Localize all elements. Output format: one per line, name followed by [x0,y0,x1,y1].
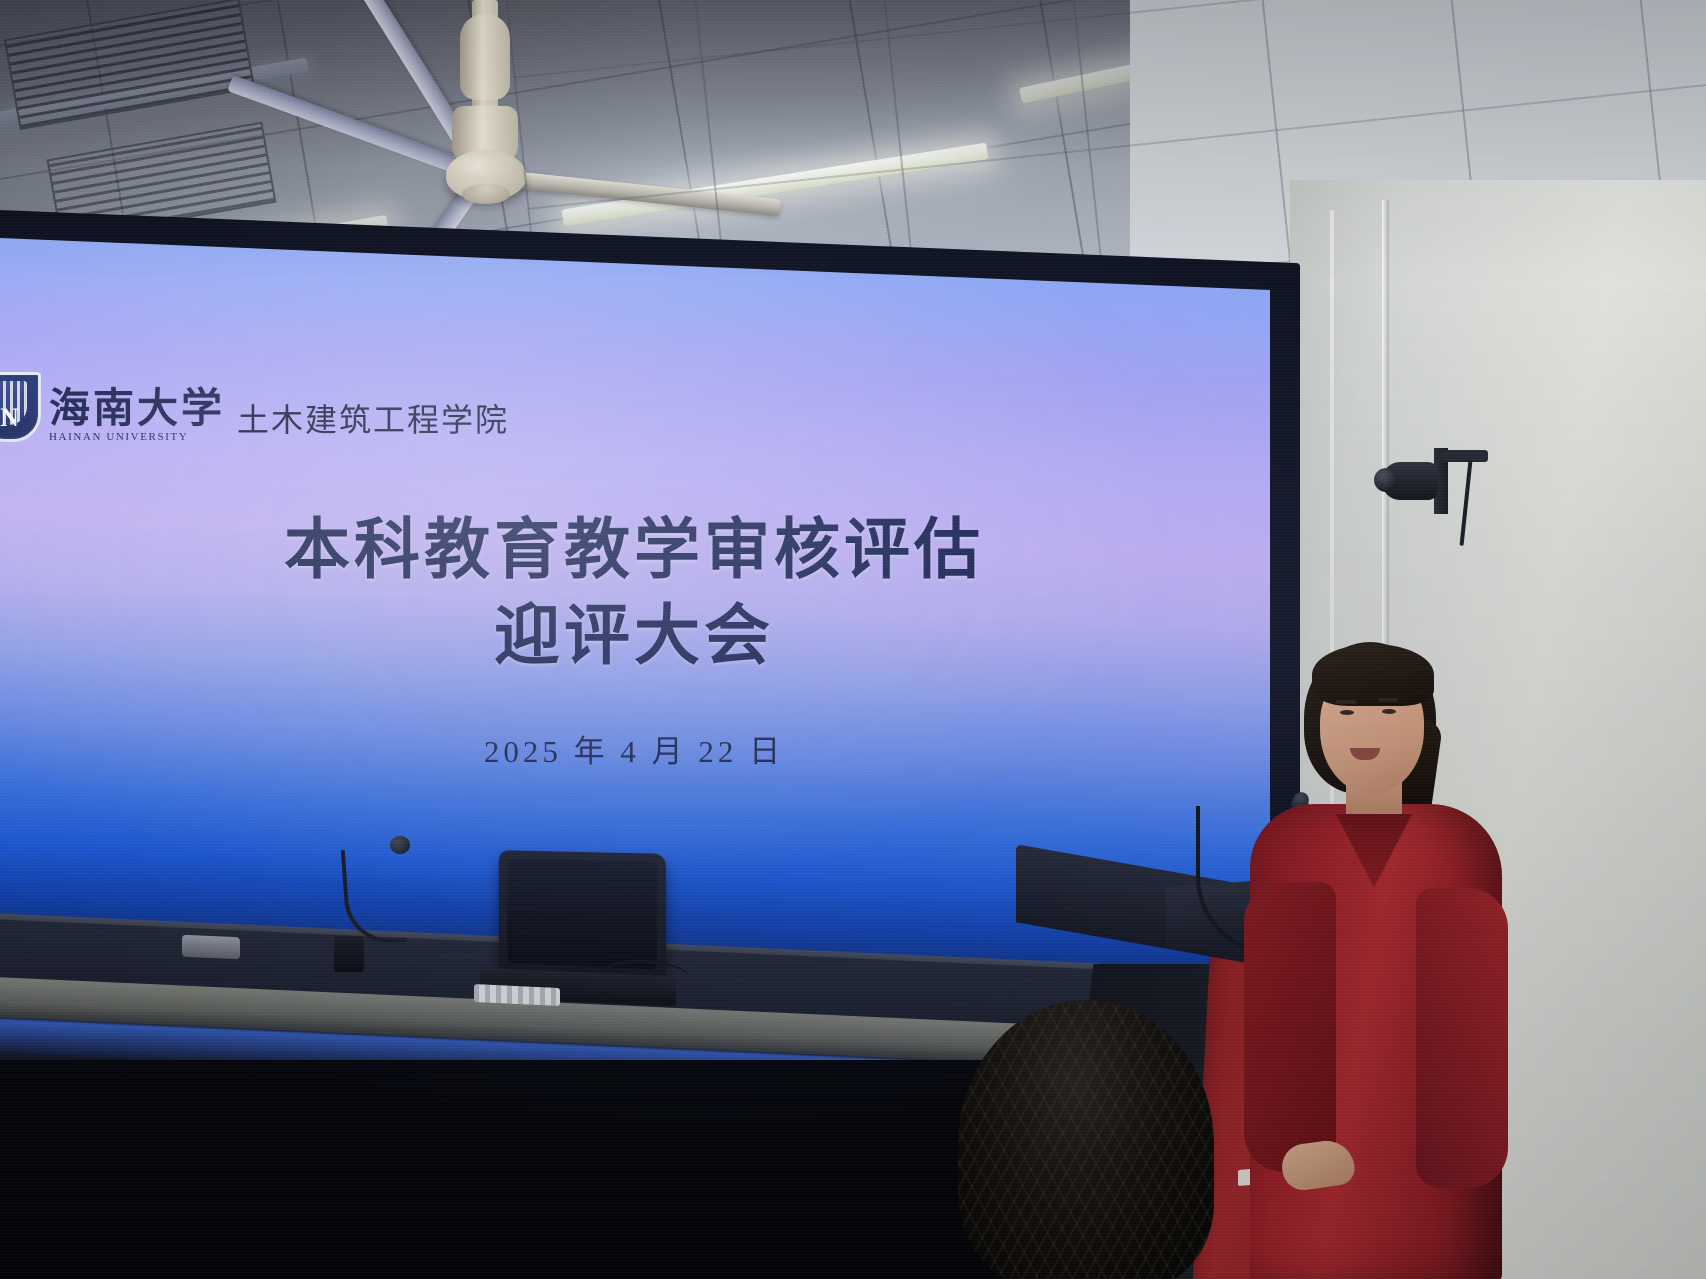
speaker-left-arm [1244,882,1336,1172]
hainan-university-shield-logo: N [0,372,37,444]
camera-lens-icon [1374,468,1398,492]
university-name-cn: 海南大学 [49,386,225,430]
shield-letter: N [0,403,26,433]
speaker-eye [1340,710,1354,715]
fan-canopy [460,14,510,100]
microphone-capsule-icon [390,836,410,854]
speaker-right-arm [1416,888,1508,1188]
control-keypad-icon [474,984,560,1006]
college-name: 土木建筑工程学院 [237,398,509,442]
fan-hub [446,150,526,200]
audience-member-foreground [958,1000,1214,1279]
shield-outline-icon: N [0,372,41,442]
foreground-shadow [0,1060,1060,1279]
slide-title-line1: 本科教育教学审核评估 [284,514,984,587]
speaker-at-podium [1216,636,1516,1279]
speaker-eyebrow [1336,700,1356,704]
slide-title: 本科教育教学审核评估 迎评大会 [0,508,1270,680]
gooseneck-microphone-icon [330,836,410,966]
conference-hall-photo: N 海南大学 HAINAN UNIVERSITY 土木建筑工程学院 本科教育教学… [0,0,1706,1279]
slide-header: N 海南大学 HAINAN UNIVERSITY 土木建筑工程学院 [3,372,509,444]
speaker-eyebrow [1378,698,1398,702]
ptz-camera-icon [1382,448,1492,520]
audience-hair-texture [958,1000,1214,1279]
microphone-neck [341,846,408,946]
speaker-hair-front [1312,644,1434,706]
desk-equipment [182,935,240,960]
logo-wordmark: 海南大学 HAINAN UNIVERSITY [49,386,225,444]
microphone-base [334,936,364,972]
speaker-eye [1382,709,1396,714]
university-name-en: HAINAN UNIVERSITY [49,430,225,444]
monitor-screen [508,858,657,969]
camera-arm [1442,450,1488,462]
slide-date: 2025 年 4 月 22 日 [0,732,1270,772]
slide-title-line2: 迎评大会 [0,594,1270,680]
